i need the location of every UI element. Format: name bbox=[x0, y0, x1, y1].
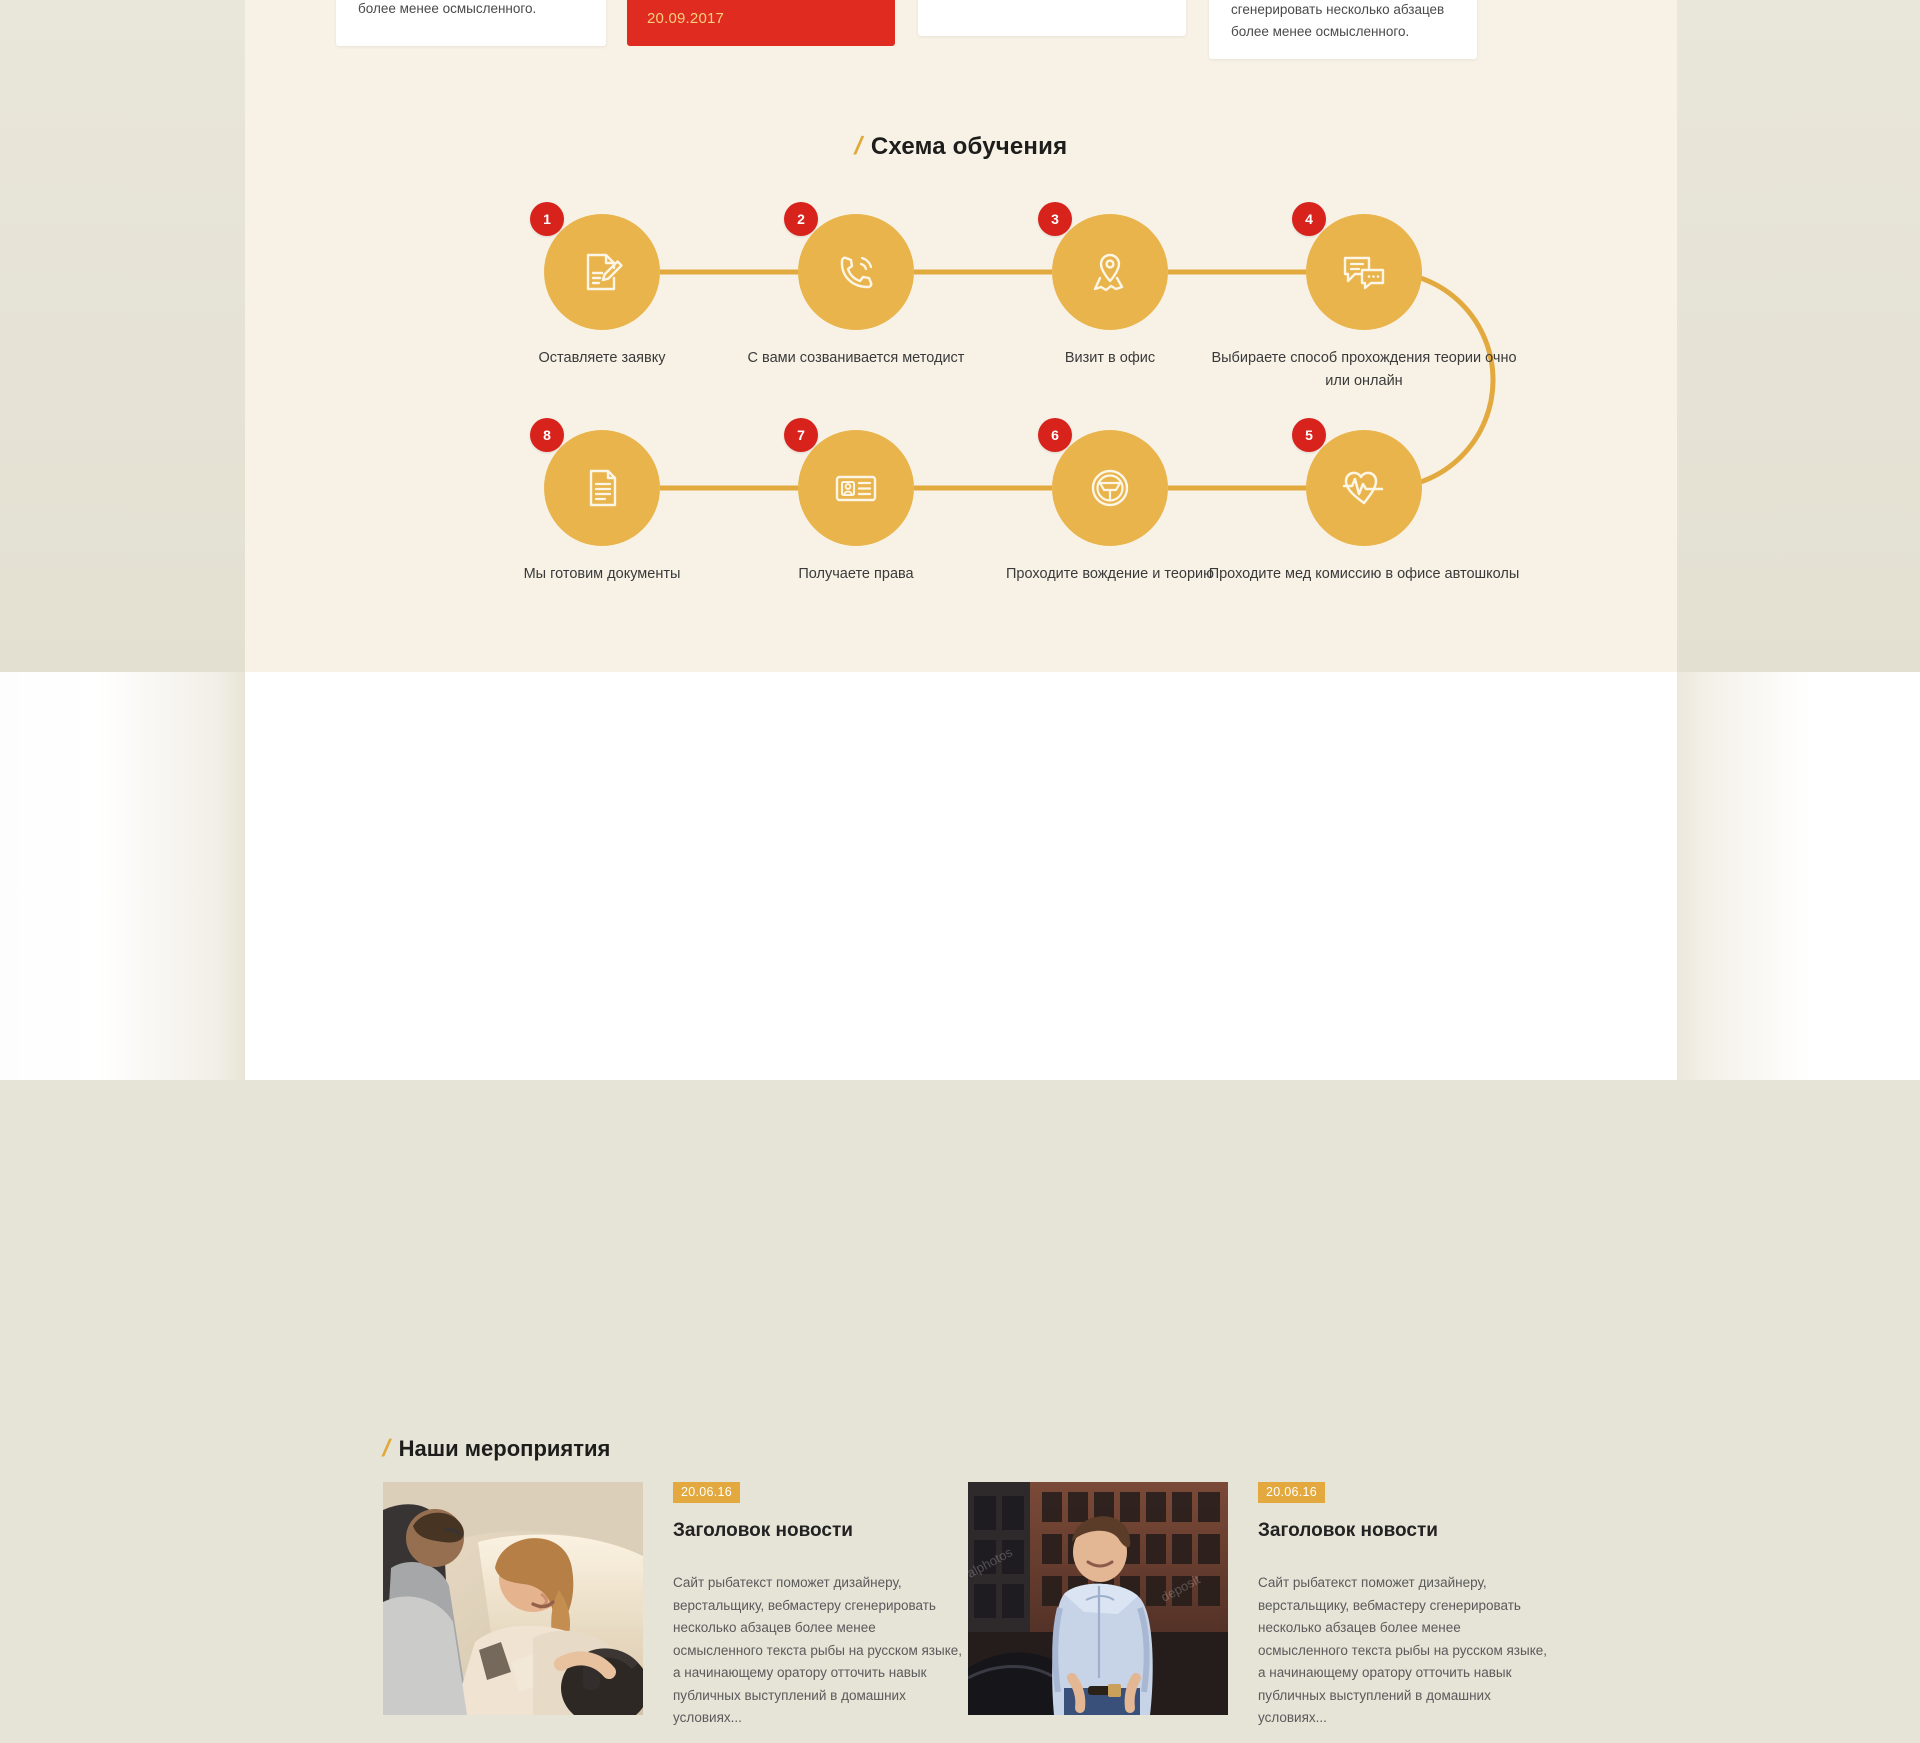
step-circle bbox=[798, 430, 914, 546]
previous-section-cards: более менее осмысленного. 20.09.2017 сге… bbox=[245, 0, 1677, 56]
step-number-badge: 6 bbox=[1038, 418, 1072, 452]
step-2[interactable]: 2 С вами созванивается методист bbox=[798, 214, 914, 330]
phone-ringing-icon bbox=[831, 247, 881, 297]
steps-diagram: 1 Оставляете заявку 2 bbox=[245, 150, 1677, 610]
news-thumbnail[interactable]: alphotos deposit bbox=[968, 1482, 1228, 1715]
man-near-car-photo: alphotos deposit bbox=[968, 1482, 1228, 1715]
news-title[interactable]: Заголовок новости bbox=[673, 1520, 963, 1542]
news-body: 20.06.16 Заголовок новости Сайт рыбатекс… bbox=[673, 1482, 963, 1743]
step-label: Мы готовим документы bbox=[439, 563, 765, 586]
training-scheme-section: более менее осмысленного. 20.09.2017 сге… bbox=[245, 0, 1677, 672]
step-circle bbox=[1052, 214, 1168, 330]
step-number-badge: 3 bbox=[1038, 202, 1072, 236]
top-card-white-right[interactable]: сгенерировать несколько абзацев более ме… bbox=[1209, 0, 1477, 59]
step-circle bbox=[544, 214, 660, 330]
news-excerpt: Сайт рыбатекст поможет дизайнеру, верста… bbox=[1258, 1572, 1548, 1730]
events-section: /Наши мероприятия bbox=[245, 672, 1677, 1080]
step-circle bbox=[1306, 430, 1422, 546]
step-7[interactable]: 7 Получаете права bbox=[798, 430, 914, 546]
driving-lesson-photo bbox=[383, 1482, 643, 1715]
top-card-white-left[interactable]: более менее осмысленного. bbox=[336, 0, 606, 46]
page-edge-shadow-left bbox=[0, 672, 245, 1080]
news-title[interactable]: Заголовок новости bbox=[1258, 1520, 1548, 1542]
step-circle bbox=[1052, 430, 1168, 546]
top-card-text: сгенерировать несколько абзацев более ме… bbox=[1231, 0, 1459, 43]
top-card-text: более менее осмысленного. bbox=[358, 0, 588, 20]
website-page: более менее осмысленного. 20.09.2017 сге… bbox=[245, 0, 1677, 1080]
step-label: Выбираете способ прохождения теории очно… bbox=[1201, 347, 1527, 393]
step-4[interactable]: 4 Выбираете способ прохождения теории оч… bbox=[1306, 214, 1422, 330]
step-number-badge: 7 bbox=[784, 418, 818, 452]
news-card-2[interactable]: alphotos deposit 20.06.16 Заголовок ново… bbox=[968, 1482, 1558, 1742]
map-pin-icon bbox=[1085, 247, 1135, 297]
step-circle bbox=[798, 214, 914, 330]
id-card-icon bbox=[830, 462, 882, 514]
news-thumbnail[interactable] bbox=[383, 1482, 643, 1715]
page-edge-shadow-right bbox=[1675, 672, 1920, 1080]
news-date-badge: 20.06.16 bbox=[1258, 1482, 1325, 1503]
step-5[interactable]: 5 Проходите мед комиссию в офисе автошко… bbox=[1306, 430, 1422, 546]
step-circle bbox=[544, 430, 660, 546]
step-3[interactable]: 3 Визит в офис bbox=[1052, 214, 1168, 330]
step-circle bbox=[1306, 214, 1422, 330]
document-lines-icon bbox=[577, 463, 627, 513]
document-pencil-icon bbox=[577, 247, 627, 297]
news-date-badge: 20.06.16 bbox=[673, 1482, 740, 1503]
step-number-badge: 4 bbox=[1292, 202, 1326, 236]
step-number-badge: 1 bbox=[530, 202, 564, 236]
heart-pulse-icon bbox=[1338, 462, 1390, 514]
news-card-1[interactable]: 20.06.16 Заголовок новости Сайт рыбатекс… bbox=[383, 1482, 973, 1742]
chat-bubbles-icon bbox=[1338, 246, 1390, 298]
news-excerpt: Сайт рыбатекст поможет дизайнеру, верста… bbox=[673, 1572, 963, 1730]
top-card-red[interactable]: 20.09.2017 bbox=[627, 0, 895, 46]
steering-wheel-icon bbox=[1084, 462, 1136, 514]
step-1[interactable]: 1 Оставляете заявку bbox=[544, 214, 660, 330]
events-title: /Наши мероприятия bbox=[383, 1435, 610, 1463]
events-title-text: Наши мероприятия bbox=[399, 1436, 611, 1461]
step-number-badge: 8 bbox=[530, 418, 564, 452]
step-8[interactable]: 8 Мы готовим документы bbox=[544, 430, 660, 546]
step-number-badge: 5 bbox=[1292, 418, 1326, 452]
step-number-badge: 2 bbox=[784, 202, 818, 236]
step-6[interactable]: 6 Проходите вождение и теорию bbox=[1052, 430, 1168, 546]
top-card-white-mid[interactable] bbox=[918, 0, 1186, 36]
accent-slash-icon: / bbox=[380, 1435, 394, 1463]
top-card-date: 20.09.2017 bbox=[647, 10, 724, 27]
news-body: 20.06.16 Заголовок новости Сайт рыбатекс… bbox=[1258, 1482, 1548, 1743]
